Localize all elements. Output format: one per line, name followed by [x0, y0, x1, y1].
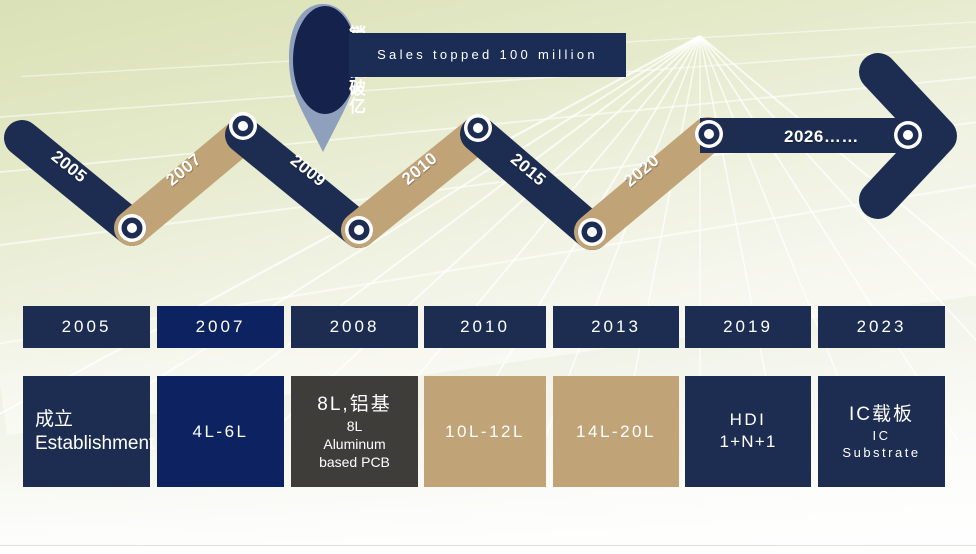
milestone-table: 2005 2007 2008 2010 2013 2019 2023 成立 Es…: [0, 0, 976, 554]
cell-main-label: HDI: [730, 410, 767, 430]
table-cell-ic-substrate[interactable]: IC载板 IC Substrate: [818, 376, 945, 487]
table-header-2008[interactable]: 2008: [291, 306, 418, 348]
table-header-2010[interactable]: 2010: [424, 306, 546, 348]
cell-cn-label: 成立: [35, 407, 73, 432]
table-cell-10l-12l[interactable]: 10L-12L: [424, 376, 546, 487]
slide-canvas: 2005 2007 2009 2010 2015 2020 2026…… 销售额…: [0, 0, 976, 554]
table-header-2005[interactable]: 2005: [23, 306, 150, 348]
table-header-label: 2013: [591, 317, 641, 337]
cell-main2-label: 1+N+1: [719, 430, 776, 453]
bottom-white-strip: [0, 546, 976, 554]
table-header-label: 2005: [62, 317, 112, 337]
table-header-label: 2023: [857, 317, 907, 337]
table-header-2013[interactable]: 2013: [553, 306, 679, 348]
table-header-label: 2019: [723, 317, 773, 337]
cell-main-label: 4L-6L: [193, 422, 249, 442]
cell-sub2-label: Substrate: [842, 444, 920, 461]
table-header-2007[interactable]: 2007: [157, 306, 284, 348]
cell-main-label: 10L-12L: [445, 422, 525, 442]
table-cell-establishment[interactable]: 成立 Establishment: [23, 376, 150, 487]
cell-en-label: Establishment: [35, 432, 154, 456]
table-header-label: 2010: [460, 317, 510, 337]
table-header-label: 2007: [196, 317, 246, 337]
cell-sub-label: 8L Aluminum based PCB: [319, 417, 390, 471]
cell-cn-label: IC载板: [849, 403, 914, 427]
table-cell-8l-aluminum[interactable]: 8L,铝基 8L Aluminum based PCB: [291, 376, 418, 487]
cell-main-label: 14L-20L: [576, 422, 656, 442]
table-header-label: 2008: [330, 317, 380, 337]
table-cell-14l-20l[interactable]: 14L-20L: [553, 376, 679, 487]
table-header-2023[interactable]: 2023: [818, 306, 945, 348]
table-cell-hdi[interactable]: HDI 1+N+1: [685, 376, 811, 487]
table-cell-4l-6l[interactable]: 4L-6L: [157, 376, 284, 487]
cell-sub-label: IC: [873, 427, 891, 444]
table-header-2019[interactable]: 2019: [685, 306, 811, 348]
cell-cn-label: 8L,铝基: [317, 393, 391, 417]
